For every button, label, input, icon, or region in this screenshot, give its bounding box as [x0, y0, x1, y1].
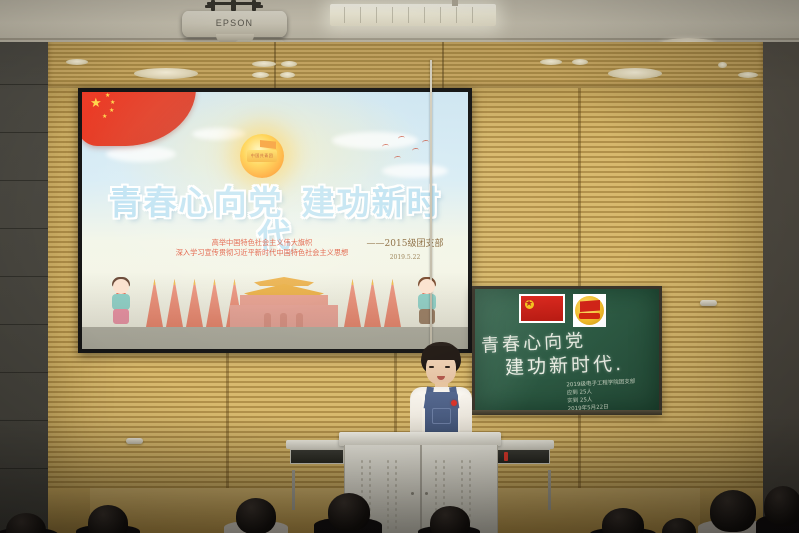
audience-head — [88, 505, 128, 533]
slide-credit-org: ——2015级团支部 — [350, 238, 460, 251]
audience-head — [710, 490, 756, 532]
cartoon-girl — [108, 279, 134, 325]
left-acoustic-wall — [0, 42, 48, 533]
cyl-emblem-text: 中国共青团 — [247, 150, 277, 162]
chalk-slogan-line-2: 建功新时代. — [505, 349, 625, 380]
cyl-emblem-icon: 中国共青团 — [240, 134, 284, 178]
bird-icon — [394, 156, 402, 162]
wing-support-leg — [548, 470, 551, 510]
fluorescent-panel-light — [330, 4, 496, 26]
flag-star-small: ★ — [105, 93, 110, 99]
podium-status-indicator — [504, 452, 508, 461]
bird-icon — [398, 136, 406, 142]
cyl-badge-poster — [573, 294, 606, 327]
flag-star-small: ★ — [109, 108, 114, 114]
lectern-desktop — [339, 432, 501, 446]
presenter-eye-right — [445, 366, 450, 368]
banner-flag — [384, 279, 401, 327]
projector-brand-label: EPSON — [182, 18, 287, 28]
podium-wing-right — [492, 440, 554, 470]
upper-wood-beam — [48, 42, 763, 88]
audience-head — [764, 486, 799, 526]
bird-icon — [412, 148, 420, 154]
blackboard-frame: 青春心向党 建功新时代. 2019级电子工程学院团支部 应到 25人 实到 25… — [472, 286, 662, 413]
chalk-tray — [472, 410, 662, 415]
lecture-hall-photo: EPSON — [0, 0, 799, 533]
tiananmen-illustration — [230, 273, 338, 327]
banner-flag — [146, 279, 163, 327]
banner-flag — [166, 279, 183, 327]
slide-credit-date: 2019.5.22 — [350, 251, 460, 264]
cyl-emblem-flag — [260, 140, 276, 149]
wall-panel-handle[interactable] — [126, 438, 143, 444]
bird-icon — [382, 144, 390, 150]
lectern-door-knob-left[interactable] — [411, 492, 414, 495]
right-acoustic-wall — [763, 42, 799, 533]
banner-flag — [364, 279, 381, 327]
flag-star-small: ★ — [110, 100, 115, 106]
banner-flag — [206, 279, 223, 327]
slide-credit: ——2015级团支部 2019.5.22 — [350, 238, 460, 264]
audience-head — [430, 506, 470, 533]
audience-head — [236, 498, 276, 533]
presenter-fringe — [422, 346, 460, 360]
projection-screen-frame: ★ ★ ★ ★ ★ 中国共青团 青春心向党建功新时代 — [78, 88, 472, 353]
bird-icon — [422, 140, 430, 146]
lectern-door-knob-right[interactable] — [425, 492, 428, 495]
presenter-eye-left — [429, 366, 434, 368]
flag-star-big: ★ — [90, 96, 102, 109]
blackboard: 青春心向党 建功新时代. 2019级电子工程学院团支部 应到 25人 实到 25… — [475, 289, 659, 410]
cyl-emblem-band: 中国共青团 — [247, 150, 277, 162]
lectern-door-split — [420, 445, 422, 533]
wing-support-leg — [292, 470, 295, 510]
ceiling: EPSON — [0, 0, 799, 42]
overall-pocket — [432, 408, 451, 424]
cartoon-boy — [414, 279, 440, 325]
flag-star-small: ★ — [102, 114, 107, 120]
audience-head — [328, 493, 370, 531]
cyl-flag-poster — [519, 294, 565, 323]
light-mount-rod — [452, 0, 458, 6]
slide-illustration — [82, 271, 468, 327]
chalk-details: 2019级电子工程学院团支部 应到 25人 实到 25人 2019年5月22日 — [566, 377, 659, 410]
wall-panel-handle[interactable] — [700, 300, 717, 306]
party-badge-pin — [451, 400, 457, 406]
banner-flag — [186, 279, 203, 327]
hanging-cord — [430, 60, 432, 345]
projection-screen: ★ ★ ★ ★ ★ 中国共青团 青春心向党建功新时代 — [82, 92, 468, 349]
banner-flag — [344, 279, 361, 327]
